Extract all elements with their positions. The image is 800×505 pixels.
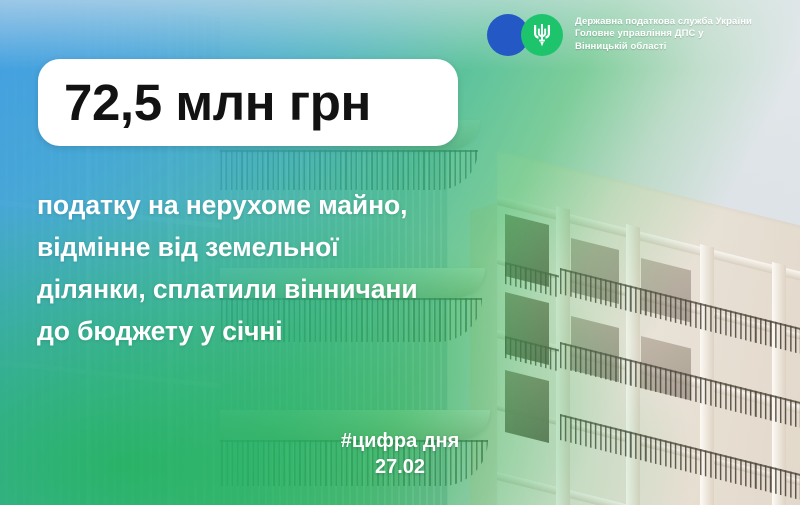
headline-amount: 72,5 млн грн: [64, 77, 371, 128]
body-line-4: до бюджету у січні: [37, 310, 517, 352]
logo-line-1: Державна податкова служба України: [575, 16, 752, 29]
body-line-2: відмінне від земельної: [37, 226, 517, 268]
headline-pill: 72,5 млн грн: [38, 59, 458, 146]
footer-block: #цифра дня 27.02: [0, 428, 800, 480]
tryzub-icon: [531, 22, 553, 48]
logo-line-3: Вінницькій області: [575, 41, 752, 54]
body-line-3: ділянки, сплатили вінничани: [37, 268, 517, 310]
body-line-1: податку на нерухоме майно,: [37, 184, 517, 226]
infographic-poster: Державна податкова служба України Головн…: [0, 0, 800, 505]
body-copy: податку на нерухоме майно, відмінне від …: [37, 184, 517, 352]
logo-text-block: Державна податкова служба України Головн…: [575, 16, 752, 54]
hashtag-label: #цифра дня: [0, 428, 800, 454]
green-circle-tryzub-icon: [521, 14, 563, 56]
logo-circles: [487, 12, 566, 57]
logo-line-2: Головне управління ДПС у: [575, 28, 752, 41]
organization-logo: Державна податкова служба України Головн…: [487, 12, 752, 57]
date-label: 27.02: [0, 454, 800, 480]
